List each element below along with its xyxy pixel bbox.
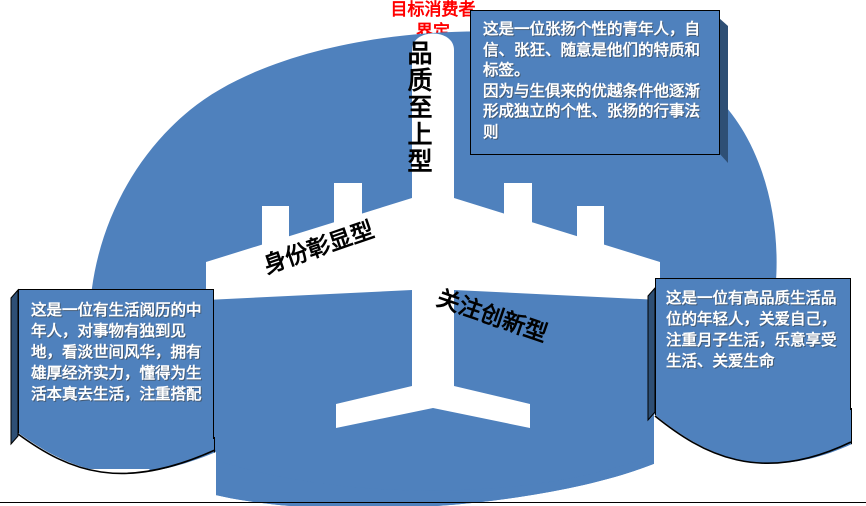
wave-mask-right [654, 414, 852, 506]
bottom-divider-rule [0, 502, 866, 503]
wave-mask-left [17, 432, 216, 506]
bottom-wave-masks [0, 0, 866, 506]
callout-left-shadow-edge [11, 290, 18, 444]
slide-canvas: 品质至上型 身份彰显型 关注创新型 目标消费者 界定 这是一位张扬个性的青年人，… [0, 0, 866, 506]
callout-right-shadow-edge [648, 288, 655, 420]
